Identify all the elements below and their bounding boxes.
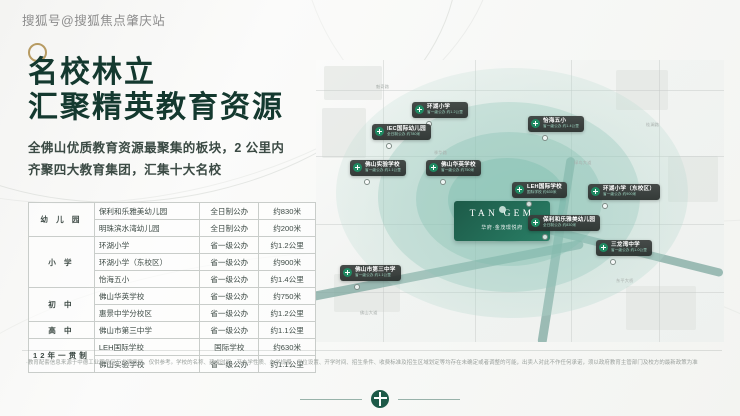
poi-text: 佛山华英学校省一级公办 约750米 bbox=[441, 163, 476, 174]
table-row: 幼 儿 园保利和乐雅美幼儿园全日制公办约830米 bbox=[29, 203, 316, 220]
table-cell-name: 环湖小学（东校区） bbox=[94, 254, 200, 271]
headline-line-2: 汇聚精英教育资源 bbox=[28, 90, 284, 125]
logo-rule-right bbox=[398, 399, 460, 400]
footer-divider bbox=[22, 350, 722, 351]
poi-plate[interactable]: 环湖小学省一级公办 约1.2公里 bbox=[412, 102, 468, 118]
school-icon bbox=[515, 185, 524, 194]
school-icon bbox=[531, 218, 540, 227]
poi-pin-icon bbox=[354, 284, 360, 292]
map-poi-marker[interactable]: 环湖小学（东校区）省一级公办 约900米 bbox=[588, 184, 660, 200]
poi-subtitle: 全日制公办 约780米 bbox=[387, 133, 426, 137]
poi-plate[interactable]: 佛山市第三中学省一级公办 约1.1公里 bbox=[340, 265, 401, 281]
table-cell-type: 省一级公办 bbox=[200, 288, 259, 305]
table-row: 高 中佛山市第三中学省一级公办约1.1公里 bbox=[29, 322, 316, 339]
table-cell-type: 省一级公办 bbox=[200, 305, 259, 322]
map-poi-marker[interactable]: 保利和乐雅美幼儿园全日制公办 约830米 bbox=[528, 215, 600, 231]
table-cell-distance: 约1.4公里 bbox=[259, 271, 316, 288]
table-cell-name: 佛山华英学校 bbox=[94, 288, 200, 305]
poi-subtitle: 省一级公办 约1.0公里 bbox=[611, 249, 647, 253]
map-poi-marker[interactable]: 佛山实验学校省一级公办 约1.1公里 bbox=[350, 160, 406, 176]
poi-text: 三龙湾中学省一级公办 约1.0公里 bbox=[611, 243, 647, 254]
table-row: 初 中佛山华英学校省一级公办约750米 bbox=[29, 288, 316, 305]
table-cell-distance: 约1.2公里 bbox=[259, 237, 316, 254]
poi-pin-head bbox=[386, 143, 392, 149]
map-street-label: 佛山大道 bbox=[360, 310, 378, 316]
table-row: 小 学环湖小学省一级公办约1.2公里 bbox=[29, 237, 316, 254]
school-icon bbox=[591, 187, 600, 196]
map-poi-marker[interactable]: 环湖小学省一级公办 约1.2公里 bbox=[412, 102, 468, 118]
school-icon bbox=[599, 243, 608, 252]
map-street-label: 东平大桥 bbox=[616, 278, 634, 284]
school-icon bbox=[353, 163, 362, 172]
table-cell-category: 小 学 bbox=[29, 237, 95, 288]
table-cell-name: 保利和乐雅美幼儿园 bbox=[94, 203, 200, 220]
poi-subtitle: 省一级公办 约1.1公里 bbox=[355, 274, 396, 278]
table-cell-type: 全日制公办 bbox=[200, 220, 259, 237]
table-cell-type: 省一级公办 bbox=[200, 271, 259, 288]
watermark-text: 搜狐号@搜狐焦点肇庆站 bbox=[22, 10, 165, 29]
poi-pin-icon bbox=[542, 234, 548, 242]
poi-pin-head bbox=[354, 284, 360, 290]
school-table-body: 幼 儿 园保利和乐雅美幼儿园全日制公办约830米明珠滨水湾幼儿园全日制公办约20… bbox=[29, 203, 316, 373]
table-cell-name: 佛山市第三中学 bbox=[94, 322, 200, 339]
poi-subtitle: 全日制公办 约830米 bbox=[543, 224, 595, 228]
headline-block: 名校林立 汇聚精英教育资源 bbox=[28, 55, 284, 126]
table-cell-distance: 约900米 bbox=[259, 254, 316, 271]
map-poi-marker[interactable]: LEH国际学校国际学校 约630米 bbox=[512, 182, 567, 198]
poi-subtitle: 省一级公办 约1.2公里 bbox=[427, 111, 463, 115]
poi-text: 佛山实验学校省一级公办 约1.1公里 bbox=[365, 163, 401, 174]
table-cell-distance: 约630米 bbox=[259, 339, 316, 356]
legal-footnote: ·教育配套信息来源于中德工业服务区三龙湾官网，仅供参考。学校的名称、建成时间、开… bbox=[26, 358, 716, 369]
poi-plate[interactable]: 怡海五小省一级公办 约1.4公里 bbox=[528, 116, 584, 132]
map-street-label: 季华路 bbox=[434, 150, 447, 156]
poi-pin-icon bbox=[542, 135, 548, 143]
poi-pin-icon bbox=[364, 179, 370, 187]
table-cell-category: 初 中 bbox=[29, 288, 95, 322]
poi-text: IEC国际幼儿园全日制公办 约780米 bbox=[387, 127, 426, 138]
table-cell-type: 省一级公办 bbox=[200, 237, 259, 254]
school-icon bbox=[375, 127, 384, 136]
poi-pin-icon bbox=[526, 201, 532, 209]
map-poi-marker[interactable]: IEC国际幼儿园全日制公办 约780米 bbox=[372, 124, 431, 140]
table-cell-type: 省一级公办 bbox=[200, 254, 259, 271]
slide-root: 搜狐号@搜狐焦点肇庆站 名校林立 汇聚精英教育资源 全佛山优质教育资源最聚集的板… bbox=[0, 0, 740, 416]
poi-text: 怡海五小省一级公办 约1.4公里 bbox=[543, 119, 579, 130]
table-cell-type: 国际学校 bbox=[200, 339, 259, 356]
map-poi-marker[interactable]: 佛山市第三中学省一级公办 约1.1公里 bbox=[340, 265, 401, 281]
table-cell-type: 全日制公办 bbox=[200, 203, 259, 220]
table-cell-type: 省一级公办 bbox=[200, 322, 259, 339]
poi-plate[interactable]: LEH国际学校国际学校 约630米 bbox=[512, 182, 567, 198]
poi-text: LEH国际学校国际学校 约630米 bbox=[527, 185, 562, 196]
poi-plate[interactable]: 佛山华英学校省一级公办 约750米 bbox=[426, 160, 481, 176]
map-block bbox=[324, 66, 382, 100]
poi-text: 环湖小学（东校区）省一级公办 约900米 bbox=[603, 187, 655, 198]
map-poi-marker[interactable]: 怡海五小省一级公办 约1.4公里 bbox=[528, 116, 584, 132]
poi-pin-head bbox=[440, 179, 446, 185]
table-cell-distance: 约200米 bbox=[259, 220, 316, 237]
brand-logo bbox=[300, 388, 460, 410]
table-cell-name: LEH国际学校 bbox=[94, 339, 200, 356]
table-cell-name: 环湖小学 bbox=[94, 237, 200, 254]
headline-line-1: 名校林立 bbox=[28, 55, 284, 90]
poi-subtitle: 省一级公办 约900米 bbox=[603, 193, 655, 197]
school-table: 幼 儿 园保利和乐雅美幼儿园全日制公办约830米明珠滨水湾幼儿园全日制公办约20… bbox=[28, 202, 316, 373]
poi-pin-icon bbox=[610, 259, 616, 267]
poi-pin-head bbox=[610, 259, 616, 265]
poi-plate[interactable]: 佛山实验学校省一级公办 约1.1公里 bbox=[350, 160, 406, 176]
brand-mark-icon bbox=[371, 390, 389, 408]
school-icon bbox=[343, 268, 352, 277]
poi-pin-icon bbox=[602, 203, 608, 211]
map-poi-marker[interactable]: 佛山华英学校省一级公办 约750米 bbox=[426, 160, 481, 176]
poi-plate[interactable]: 保利和乐雅美幼儿园全日制公办 约830米 bbox=[528, 215, 600, 231]
poi-text: 保利和乐雅美幼儿园全日制公办 约830米 bbox=[543, 218, 595, 229]
table-cell-distance: 约1.1公里 bbox=[259, 322, 316, 339]
table-cell-distance: 约830米 bbox=[259, 203, 316, 220]
poi-subtitle: 省一级公办 约1.1公里 bbox=[365, 169, 401, 173]
poi-plate[interactable]: 三龙湾中学省一级公办 约1.0公里 bbox=[596, 240, 652, 256]
headline-subtitle: 全佛山优质教育资源最聚集的板块，2 公里内齐聚四大教育集团，汇集十大名校 bbox=[28, 138, 288, 182]
map-street-label: 桂澜路 bbox=[646, 122, 659, 128]
poi-text: 环湖小学省一级公办 约1.2公里 bbox=[427, 105, 463, 116]
poi-pin-head bbox=[542, 135, 548, 141]
school-icon bbox=[415, 105, 424, 114]
map-street-label: 绿岛大道 bbox=[574, 160, 592, 166]
logo-rule-left bbox=[300, 399, 362, 400]
table-cell-distance: 约750米 bbox=[259, 288, 316, 305]
school-icon bbox=[531, 119, 540, 128]
poi-plate[interactable]: 环湖小学（东校区）省一级公办 约900米 bbox=[588, 184, 660, 200]
poi-pin-head bbox=[364, 179, 370, 185]
map-panel[interactable]: 三龙湾大道季华路绿岛大道魁奇路桂澜路东平大桥佛山大道 TAN GEM 华府·金茂… bbox=[316, 60, 724, 342]
table-cell-name: 明珠滨水湾幼儿园 bbox=[94, 220, 200, 237]
school-icon bbox=[429, 163, 438, 172]
map-poi-marker[interactable]: 三龙湾中学省一级公办 约1.0公里 bbox=[596, 240, 652, 256]
map-street-label: 魁奇路 bbox=[376, 84, 389, 90]
table-cell-category: 幼 儿 园 bbox=[29, 203, 95, 237]
poi-pin-icon bbox=[440, 179, 446, 187]
project-logo-icon bbox=[499, 206, 506, 213]
table-cell-name: 怡海五小 bbox=[94, 271, 200, 288]
table-cell-name: 惠景中学分校区 bbox=[94, 305, 200, 322]
table-cell-distance: 约1.2公里 bbox=[259, 305, 316, 322]
table-cell-category: 高 中 bbox=[29, 322, 95, 339]
poi-pin-head bbox=[526, 201, 532, 207]
poi-plate[interactable]: IEC国际幼儿园全日制公办 约780米 bbox=[372, 124, 431, 140]
poi-subtitle: 省一级公办 约1.4公里 bbox=[543, 125, 579, 129]
poi-text: 佛山市第三中学省一级公办 约1.1公里 bbox=[355, 268, 396, 279]
table-row: 12年一贯制LEH国际学校国际学校约630米 bbox=[29, 339, 316, 356]
poi-pin-icon bbox=[386, 143, 392, 151]
poi-pin-head bbox=[602, 203, 608, 209]
poi-subtitle: 国际学校 约630米 bbox=[527, 191, 562, 195]
poi-pin-head bbox=[542, 234, 548, 240]
poi-subtitle: 省一级公办 约750米 bbox=[441, 169, 476, 173]
